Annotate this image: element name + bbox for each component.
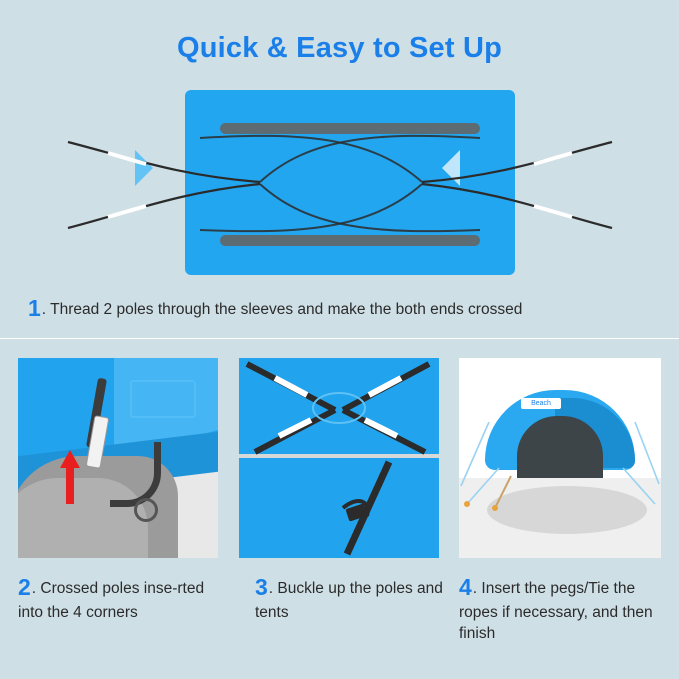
step-2-number: 2 bbox=[18, 574, 31, 600]
instruction-page: Quick & Easy to Set Up 1 bbox=[0, 0, 679, 679]
step-1-number: 1 bbox=[28, 295, 41, 321]
step-3-caption: 3. Buckle up the poles and tents bbox=[255, 572, 445, 624]
step-3-text: . Buckle up the poles and tents bbox=[255, 580, 443, 621]
corner-pocket bbox=[130, 380, 196, 418]
crossing-poles-closeup bbox=[239, 358, 439, 558]
red-arrow-head bbox=[60, 450, 80, 468]
step-1-caption: 1. Thread 2 poles through the sleeves an… bbox=[28, 295, 658, 322]
page-title: Quick & Easy to Set Up bbox=[0, 32, 679, 65]
step-1-text: . Thread 2 poles through the sleeves and… bbox=[42, 301, 523, 318]
guy-ropes-and-pegs bbox=[459, 358, 661, 558]
step-2-text: . Crossed poles inse-rted into the 4 cor… bbox=[18, 580, 204, 621]
step-4-photo: Beach bbox=[459, 358, 661, 558]
corner-ring bbox=[134, 498, 158, 522]
step-2-photo bbox=[18, 358, 218, 558]
step1-illustration bbox=[60, 80, 620, 285]
step-3-number: 3 bbox=[255, 574, 268, 600]
section-divider bbox=[0, 338, 679, 339]
step-4-text: . Insert the pegs/Tie the ropes if neces… bbox=[459, 580, 653, 642]
step-2-caption: 2. Crossed poles inse-rted into the 4 co… bbox=[18, 572, 233, 624]
step-3-photo bbox=[239, 358, 439, 558]
step-4-caption: 4. Insert the pegs/Tie the ropes if nece… bbox=[459, 572, 669, 645]
crossed-poles-diagram bbox=[60, 80, 620, 285]
step-4-number: 4 bbox=[459, 574, 472, 600]
red-arrow-shaft bbox=[66, 464, 74, 504]
